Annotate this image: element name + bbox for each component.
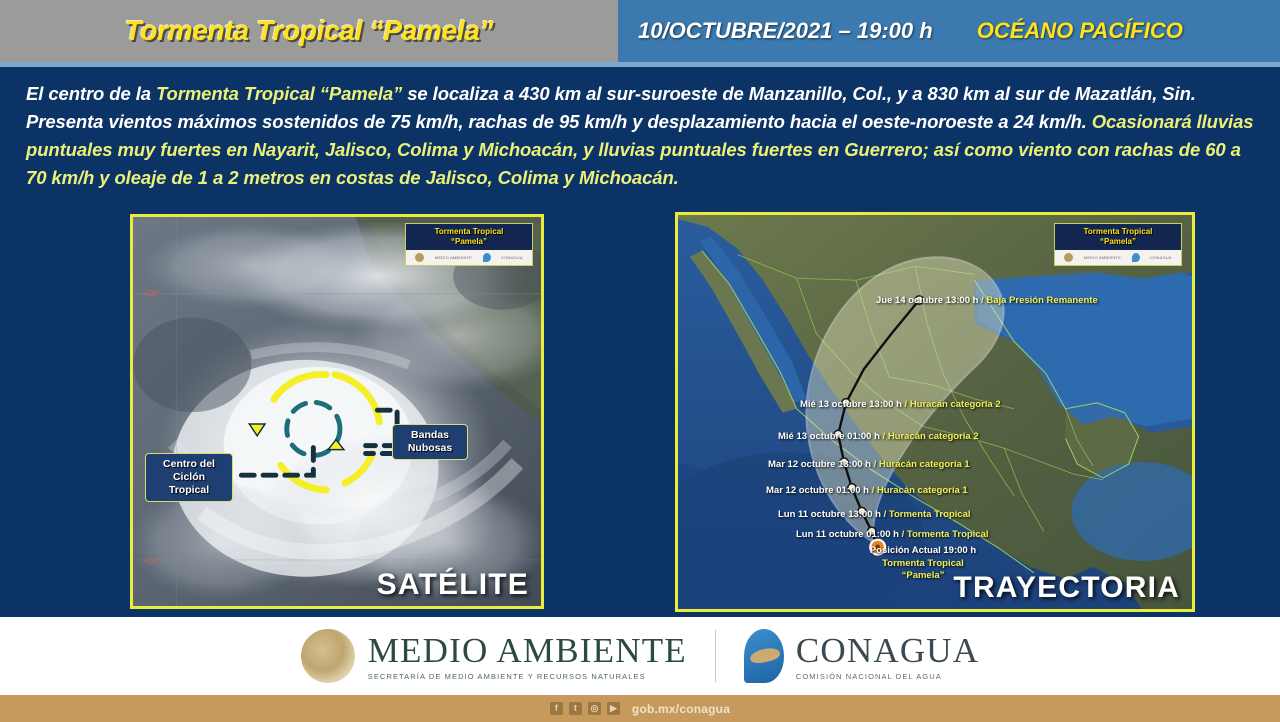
gob-url-label[interactable]: gob.mx/conagua: [632, 702, 730, 716]
point-time: Lun 11 octubre 13:00 h: [778, 509, 881, 520]
water-drop-icon: [483, 253, 491, 262]
ocean-basin-label: OCÉANO PACÍFICO: [977, 18, 1183, 44]
satellite-image: +20° +10°: [133, 217, 541, 606]
instagram-icon[interactable]: ◎: [588, 702, 601, 715]
point-time: Mié 13 octubre 13:00 h: [800, 399, 902, 410]
trajectory-caption: TRAYECTORIA: [953, 571, 1180, 605]
conagua-logo: CONAGUA COMISIÓN NACIONAL DEL AGUA: [744, 629, 979, 683]
svg-text:+20°: +20°: [143, 289, 160, 298]
bulletin-seg-1: El centro de la: [26, 83, 156, 104]
conagua-water-drop-icon: [744, 629, 784, 683]
label-cloud-bands: BandasNubosas: [392, 424, 468, 460]
satellite-inset-title: Tormenta Tropical “Pamela”: [406, 224, 532, 250]
point-time: Mar 12 octubre 13:00 h: [768, 459, 871, 470]
medio-ambiente-subtitle: SECRETARÍA DE MEDIO AMBIENTE Y RECURSOS …: [368, 672, 687, 681]
satellite-inset-logo-left: MEDIO AMBIENTE: [435, 255, 472, 260]
point-time: Mar 12 octubre 01:00 h: [766, 485, 869, 496]
mexico-seal-icon: [415, 253, 424, 262]
point-category: / Huracán categoría 1: [872, 485, 968, 496]
bulletin-datetime: 10/OCTUBRE/2021 – 19:00 h: [638, 18, 933, 44]
point-time: Lun 11 octubre 01:00 h: [796, 529, 899, 540]
point-category: / Huracán categoría 2: [905, 399, 1001, 410]
satellite-panel[interactable]: +20° +10° Tormenta Tropical “Pamela” MED…: [130, 214, 544, 609]
footer-social-bar: f t ◎ ▶ gob.mx/conagua: [0, 695, 1280, 722]
satellite-inset-title-line1: Tormenta Tropical: [408, 227, 530, 237]
point-time: Jue 14 octubre 13:00 h: [876, 295, 978, 306]
trajectory-point-label: Lun 11 octubre 13:00 h / Tormenta Tropic…: [778, 509, 971, 521]
footer-divider: [715, 630, 716, 682]
point-time: Mié 13 octubre 01:00 h: [778, 431, 880, 442]
mexico-coat-of-arms-icon: [301, 629, 355, 683]
header-info-block: 10/OCTUBRE/2021 – 19:00 h OCÉANO PACÍFIC…: [618, 0, 1280, 62]
trajectory-panel[interactable]: Tormenta Tropical “Pamela” MEDIO AMBIENT…: [675, 212, 1195, 612]
header-storm-block: Tormenta Tropical “Pamela”: [0, 0, 618, 62]
trajectory-inset-title-line2: “Pamela”: [1057, 237, 1179, 247]
label-cyclone-center: Centro delCiclónTropical: [145, 453, 233, 502]
point-category: / Baja Presión Remanente: [981, 295, 1098, 306]
facebook-icon[interactable]: f: [550, 702, 563, 715]
bulletin-highlight-1: Tormenta Tropical “Pamela”: [156, 83, 402, 104]
trajectory-point-label: Lun 11 octubre 01:00 h / Tormenta Tropic…: [796, 529, 989, 541]
mexico-seal-icon: [1064, 253, 1073, 262]
satellite-inset-title-line2: “Pamela”: [408, 237, 530, 247]
current-position-line2: Tormenta Tropical: [828, 558, 1018, 571]
twitter-icon[interactable]: t: [569, 702, 582, 715]
conagua-title: CONAGUA: [796, 632, 979, 670]
trajectory-inset-logos: MEDIO AMBIENTE CONAGUA: [1055, 250, 1181, 265]
bulletin-paragraph: El centro de la Tormenta Tropical “Pamel…: [26, 80, 1264, 192]
point-category: / Huracán categoría 2: [883, 431, 979, 442]
conagua-subtitle: COMISIÓN NACIONAL DEL AGUA: [796, 672, 979, 681]
trajectory-point-label: Jue 14 octubre 13:00 h / Baja Presión Re…: [876, 295, 1098, 307]
trajectory-point-label: Mié 13 octubre 01:00 h / Huracán categor…: [778, 431, 979, 443]
header-bar: Tormenta Tropical “Pamela” 10/OCTUBRE/20…: [0, 0, 1280, 62]
trajectory-inset-logo-card: Tormenta Tropical “Pamela” MEDIO AMBIENT…: [1054, 223, 1182, 266]
water-drop-icon: [1132, 253, 1140, 262]
trajectory-inset-title-line1: Tormenta Tropical: [1057, 227, 1179, 237]
satellite-inset-logo-card: Tormenta Tropical “Pamela” MEDIO AMBIENT…: [405, 223, 533, 266]
point-category: / Tormenta Tropical: [884, 509, 971, 520]
storm-title: Tormenta Tropical “Pamela”: [125, 15, 494, 47]
point-category: / Huracán categoría 1: [874, 459, 970, 470]
current-position-line1: Posición Actual 19:00 h: [828, 545, 1018, 558]
medio-ambiente-title: MEDIO AMBIENTE: [368, 632, 687, 670]
satellite-inset-logo-right: CONAGUA: [501, 255, 523, 260]
footer-logo-bar: MEDIO AMBIENTE SECRETARÍA DE MEDIO AMBIE…: [0, 617, 1280, 695]
satellite-caption: SATÉLITE: [377, 568, 529, 602]
youtube-icon[interactable]: ▶: [607, 702, 620, 715]
trajectory-point-label: Mar 12 octubre 13:00 h / Huracán categor…: [768, 459, 970, 471]
header-underline: [0, 62, 1280, 67]
satellite-inset-logos: MEDIO AMBIENTE CONAGUA: [406, 250, 532, 265]
svg-text:+10°: +10°: [143, 557, 160, 566]
point-category: / Tormenta Tropical: [902, 529, 989, 540]
trajectory-inset-title: Tormenta Tropical “Pamela”: [1055, 224, 1181, 250]
trajectory-point-label: Mar 12 octubre 01:00 h / Huracán categor…: [766, 485, 968, 497]
trajectory-inset-logo-right: CONAGUA: [1150, 255, 1172, 260]
bulletin-page: Tormenta Tropical “Pamela” 10/OCTUBRE/20…: [0, 0, 1280, 722]
medio-ambiente-logo: MEDIO AMBIENTE SECRETARÍA DE MEDIO AMBIE…: [301, 629, 687, 683]
trajectory-inset-logo-left: MEDIO AMBIENTE: [1084, 255, 1121, 260]
trajectory-point-label: Mié 13 octubre 13:00 h / Huracán categor…: [800, 399, 1001, 411]
